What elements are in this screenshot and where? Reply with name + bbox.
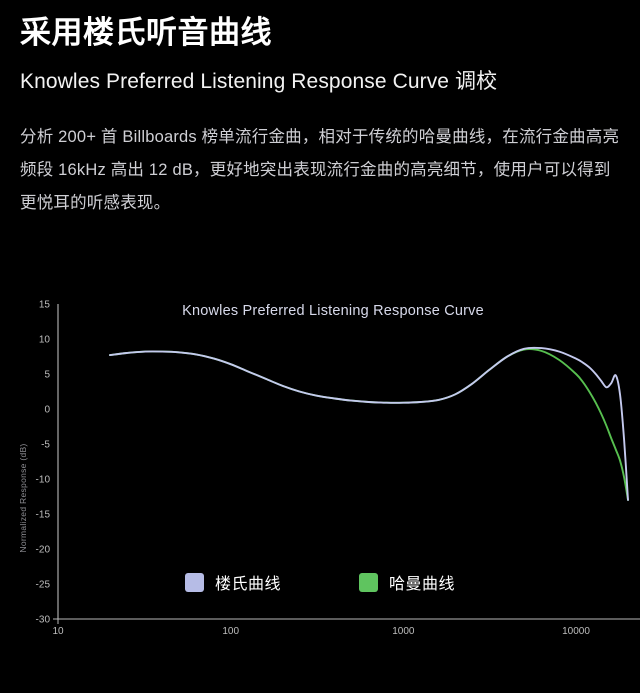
legend-item-knowles[interactable]: 楼氏曲线 (185, 570, 281, 594)
legend-label-harman: 哈曼曲线 (389, 570, 455, 594)
series-line-harman (110, 349, 628, 500)
x-tick-label: 1000 (392, 626, 415, 637)
y-tick-label: -20 (36, 545, 51, 556)
legend-swatch-knowles (185, 573, 204, 592)
chart-series-group (110, 348, 628, 500)
chart-legend: 楼氏曲线 哈曼曲线 (0, 570, 640, 594)
chart-title: Knowles Preferred Listening Response Cur… (182, 303, 484, 319)
legend-item-harman[interactable]: 哈曼曲线 (359, 570, 455, 594)
y-axis-title: Normalized Response (dB) (18, 443, 28, 552)
y-tick-label: 10 (39, 335, 51, 346)
y-tick-label: -10 (36, 475, 51, 486)
page-subtitle-english: Knowles Preferred Listening Response Cur… (20, 51, 620, 96)
x-tick-label: 10 (52, 626, 64, 637)
y-tick-label: -30 (36, 615, 51, 626)
legend-swatch-harman (359, 573, 378, 592)
x-tick-label: 100 (222, 626, 239, 637)
y-tick-label: 5 (44, 370, 50, 381)
series-line-knowles (110, 348, 628, 500)
body-paragraph: 分析 200+ 首 Billboards 榜单流行金曲，相对于传统的哈曼曲线，在… (20, 97, 620, 220)
legend-label-knowles: 楼氏曲线 (215, 570, 281, 594)
y-tick-label: 15 (39, 300, 51, 311)
page-root: 采用楼氏听音曲线 Knowles Preferred Listening Res… (0, 0, 640, 693)
y-tick-label: -5 (41, 440, 50, 451)
page-title-chinese: 采用楼氏听音曲线 (20, 0, 620, 51)
y-tick-label: 0 (44, 405, 50, 416)
y-tick-label: -15 (36, 510, 51, 521)
x-tick-label: 10000 (562, 626, 590, 637)
x-axis-ticks: 10100100010000 (52, 614, 590, 637)
